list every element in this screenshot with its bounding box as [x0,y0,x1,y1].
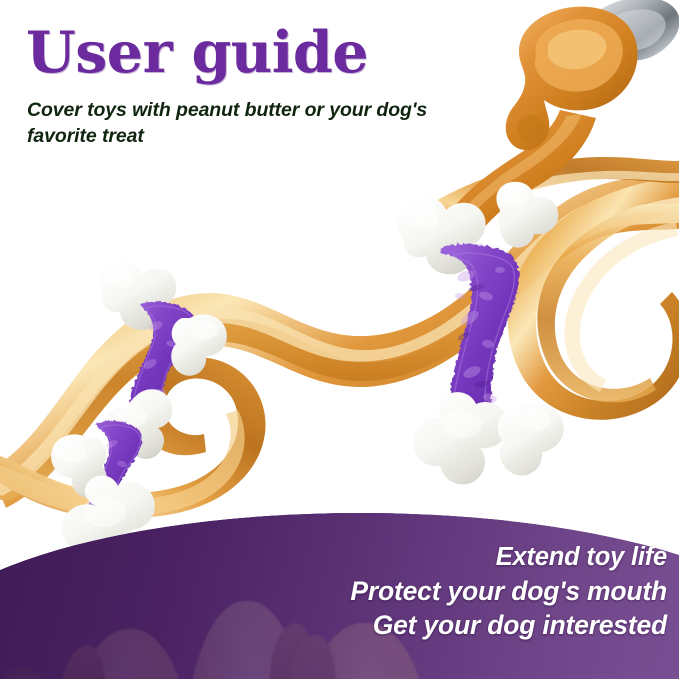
benefit-item-3: Get your dog interested [7,608,667,642]
benefit-item-1: Extend toy life [7,540,667,574]
page-subtitle: Cover toys with peanut butter or your do… [27,98,447,150]
product-infographic: User guide Cover toys with peanut butter… [0,0,679,679]
page-title: User guide [26,24,368,81]
benefits-list: Extend toy life Protect your dog's mouth… [7,540,667,642]
benefit-item-2: Protect your dog's mouth [7,574,667,608]
